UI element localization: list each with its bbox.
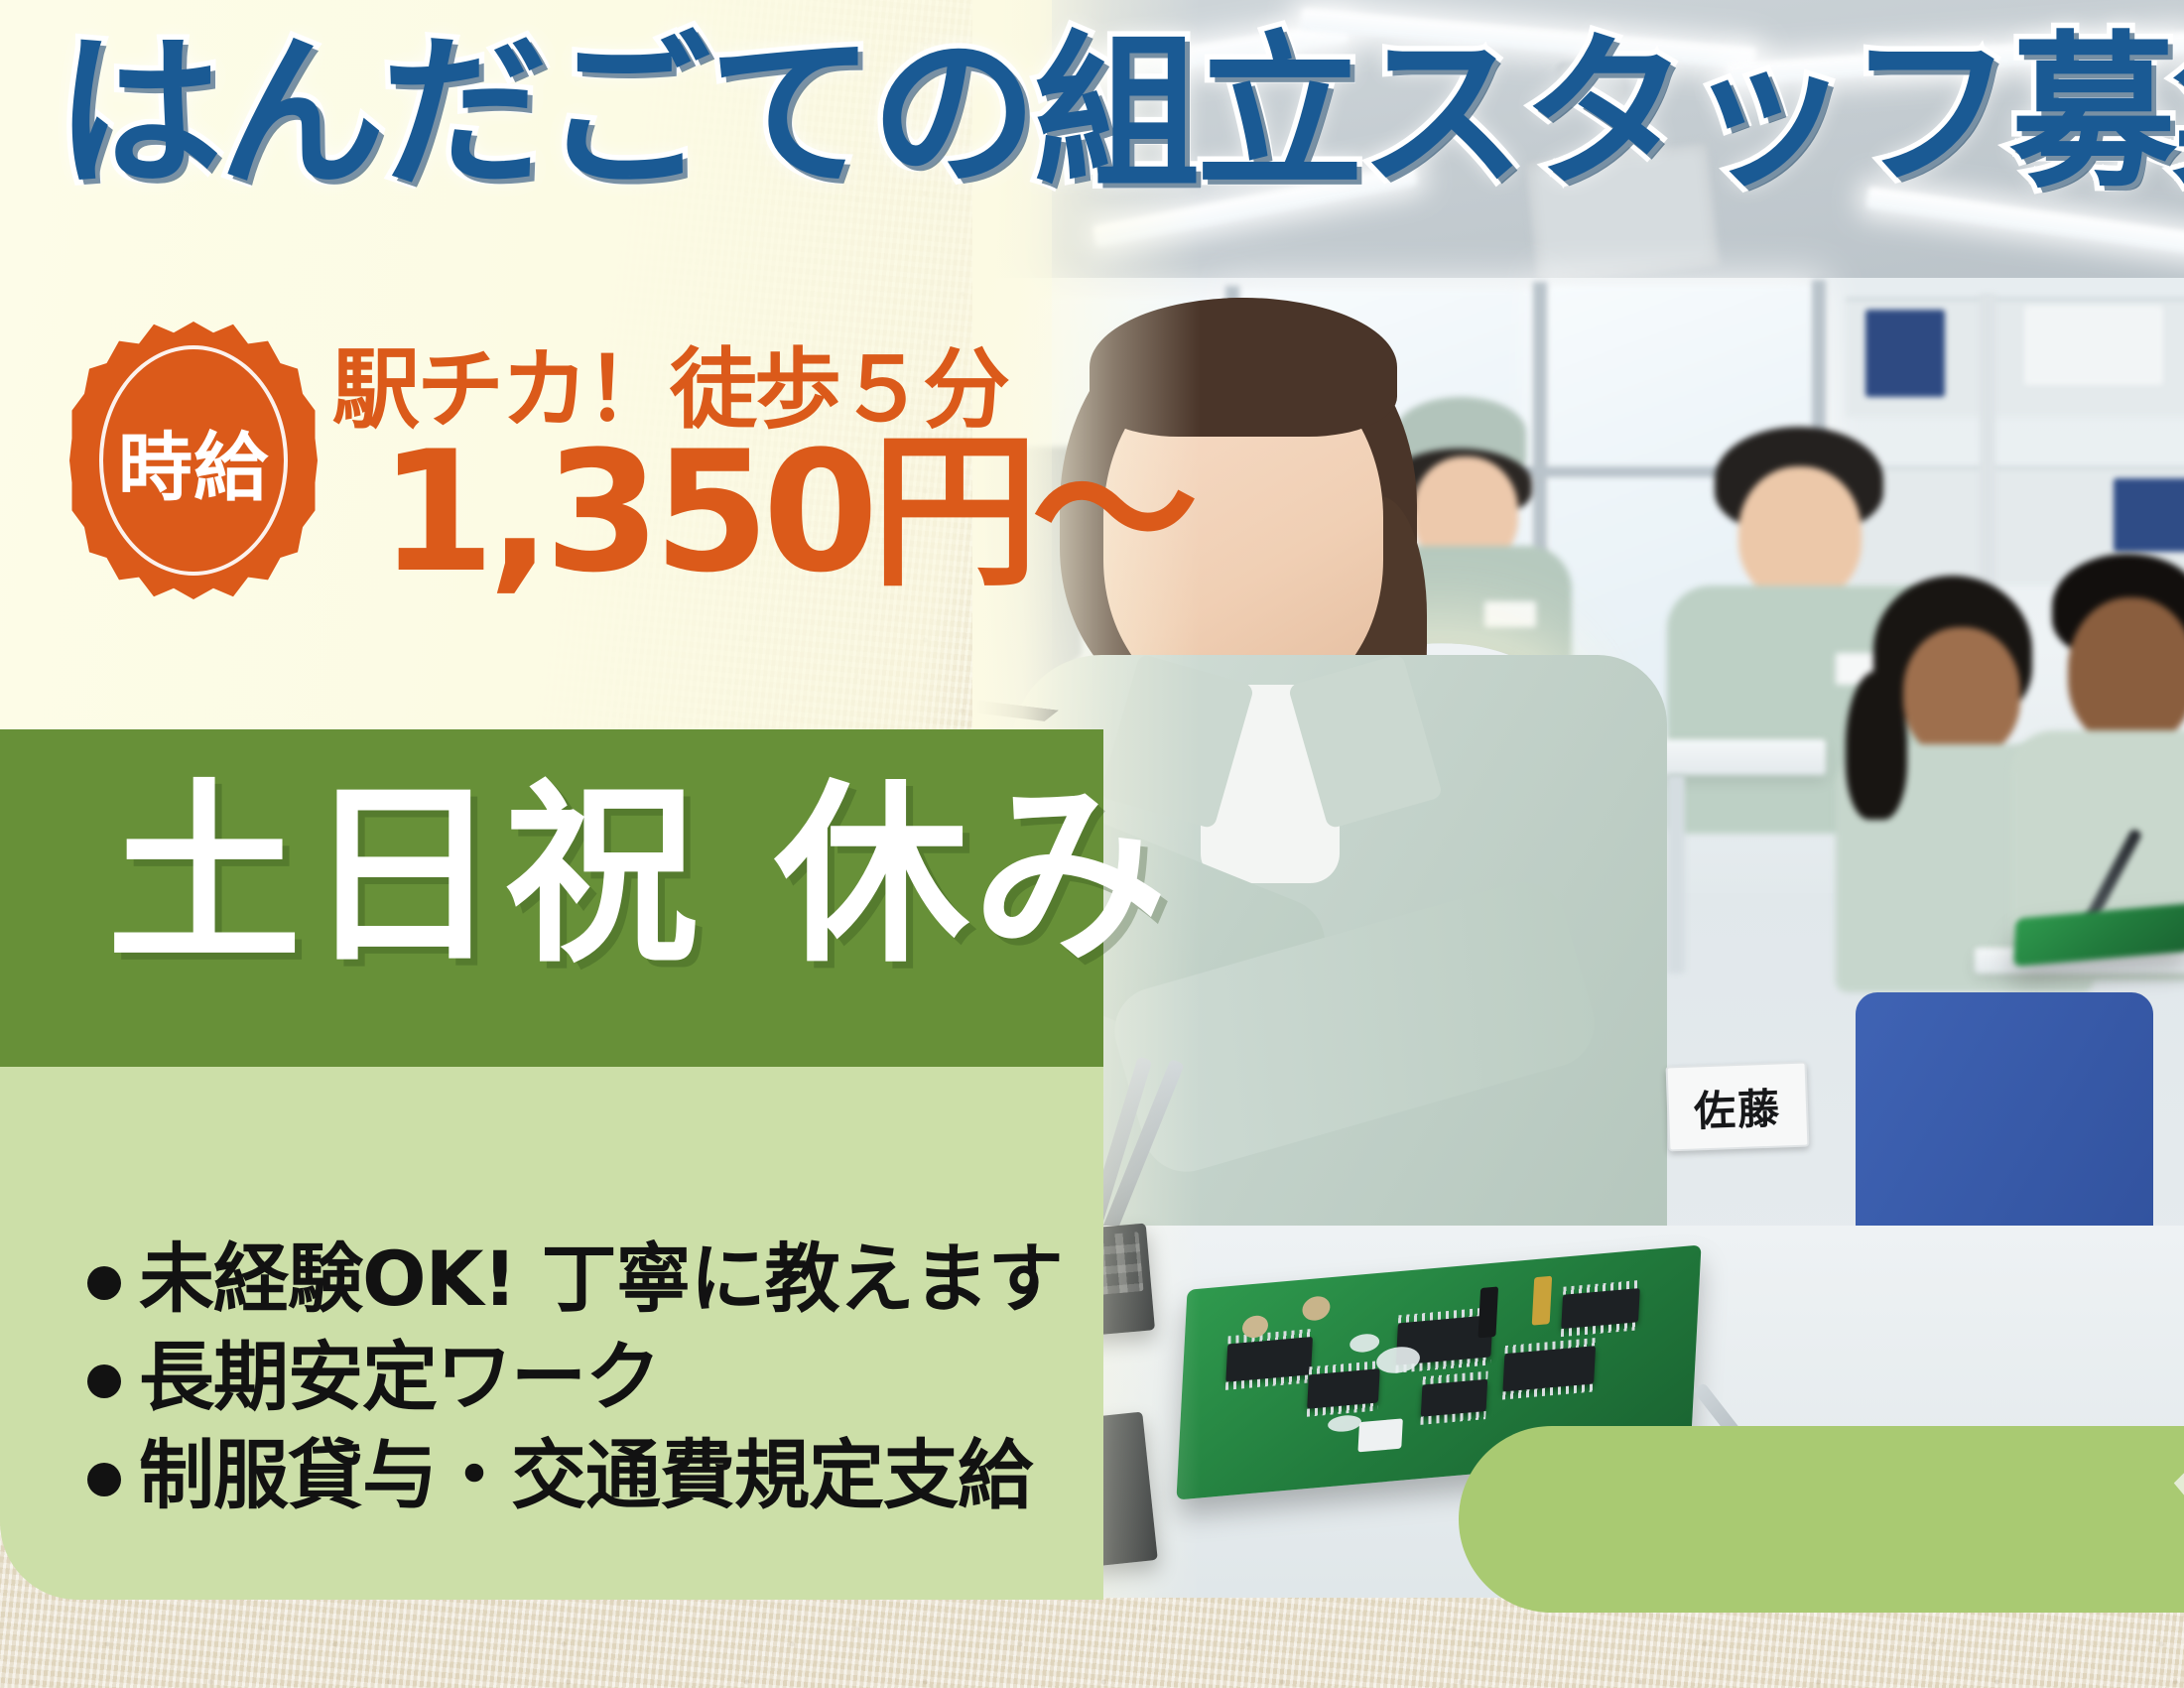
list-item: 制服貸与・交通費規定支給 <box>87 1427 1080 1525</box>
pcb-chip-4 <box>1421 1379 1487 1417</box>
hourly-wage-amount: 1,350円〜 <box>379 429 1191 595</box>
employee-name-badge-text: 佐藤 <box>1693 1075 1782 1138</box>
worker-head <box>1903 627 2020 758</box>
list-item: 長期安定ワーク <box>87 1329 1080 1427</box>
benefit-text: 制服貸与・交通費規定支給 <box>139 1427 1032 1525</box>
bullet-dot-icon <box>87 1463 121 1496</box>
pcb-chip-6 <box>1561 1288 1640 1329</box>
employee-name-badge: 佐藤 <box>1666 1062 1810 1152</box>
benefit-text: 未経験OK! 丁寧に教えます <box>139 1231 1063 1329</box>
benefits-list: 未経験OK! 丁寧に教えます 長期安定ワーク 制服貸与・交通費規定支給 <box>87 1231 1080 1524</box>
benefit-text: 長期安定ワーク <box>139 1329 660 1427</box>
holiday-banner: 土日祝 休み <box>0 729 1103 1067</box>
bullet-dot-icon <box>87 1266 121 1300</box>
shelf-post <box>1980 294 1995 591</box>
holiday-banner-text: 土日祝 休み <box>107 779 1171 974</box>
list-item: 未経験OK! 丁寧に教えます <box>87 1231 1080 1329</box>
pcb-solder-joint-3 <box>1328 1414 1362 1433</box>
green-tab-notch-shape <box>2157 1444 2184 1529</box>
benefits-panel: 未経験OK! 丁寧に教えます 長期安定ワーク 制服貸与・交通費規定支給 <box>0 1067 1103 1600</box>
worker-name-badge <box>1484 601 1536 627</box>
pcb-chip-2 <box>1307 1368 1380 1409</box>
worker-head <box>2068 597 2184 746</box>
shelf-box-white-1 <box>2024 306 2163 385</box>
mid-bench-leg-2 <box>1667 775 1685 974</box>
bullet-dot-icon <box>87 1364 121 1398</box>
worker-head <box>1738 466 1862 601</box>
shelf-box-navy-2 <box>2114 478 2184 552</box>
pcb-chip-5 <box>1502 1346 1596 1391</box>
pcb-capacitor-gold <box>1532 1276 1552 1326</box>
seal-label-text: 時給 <box>69 322 318 599</box>
pcb-white-connector <box>1357 1418 1402 1452</box>
pcb-capacitor-black <box>1477 1286 1498 1338</box>
page-title: はんだごての組立スタッフ募集！ <box>56 30 2139 196</box>
job-recruitment-poster: 佐藤 <box>0 0 2184 1688</box>
shelf-box-navy-1 <box>1865 310 1945 397</box>
hourly-wage-seal: 時給 <box>69 322 318 599</box>
worker-ponytail <box>1846 671 1907 820</box>
pcb-capacitor-tan-1 <box>1302 1295 1331 1322</box>
pcb-solder-joint-2 <box>1349 1333 1380 1354</box>
bottom-right-green-tab <box>1459 1426 2184 1613</box>
pcb-chip-1 <box>1225 1337 1313 1382</box>
